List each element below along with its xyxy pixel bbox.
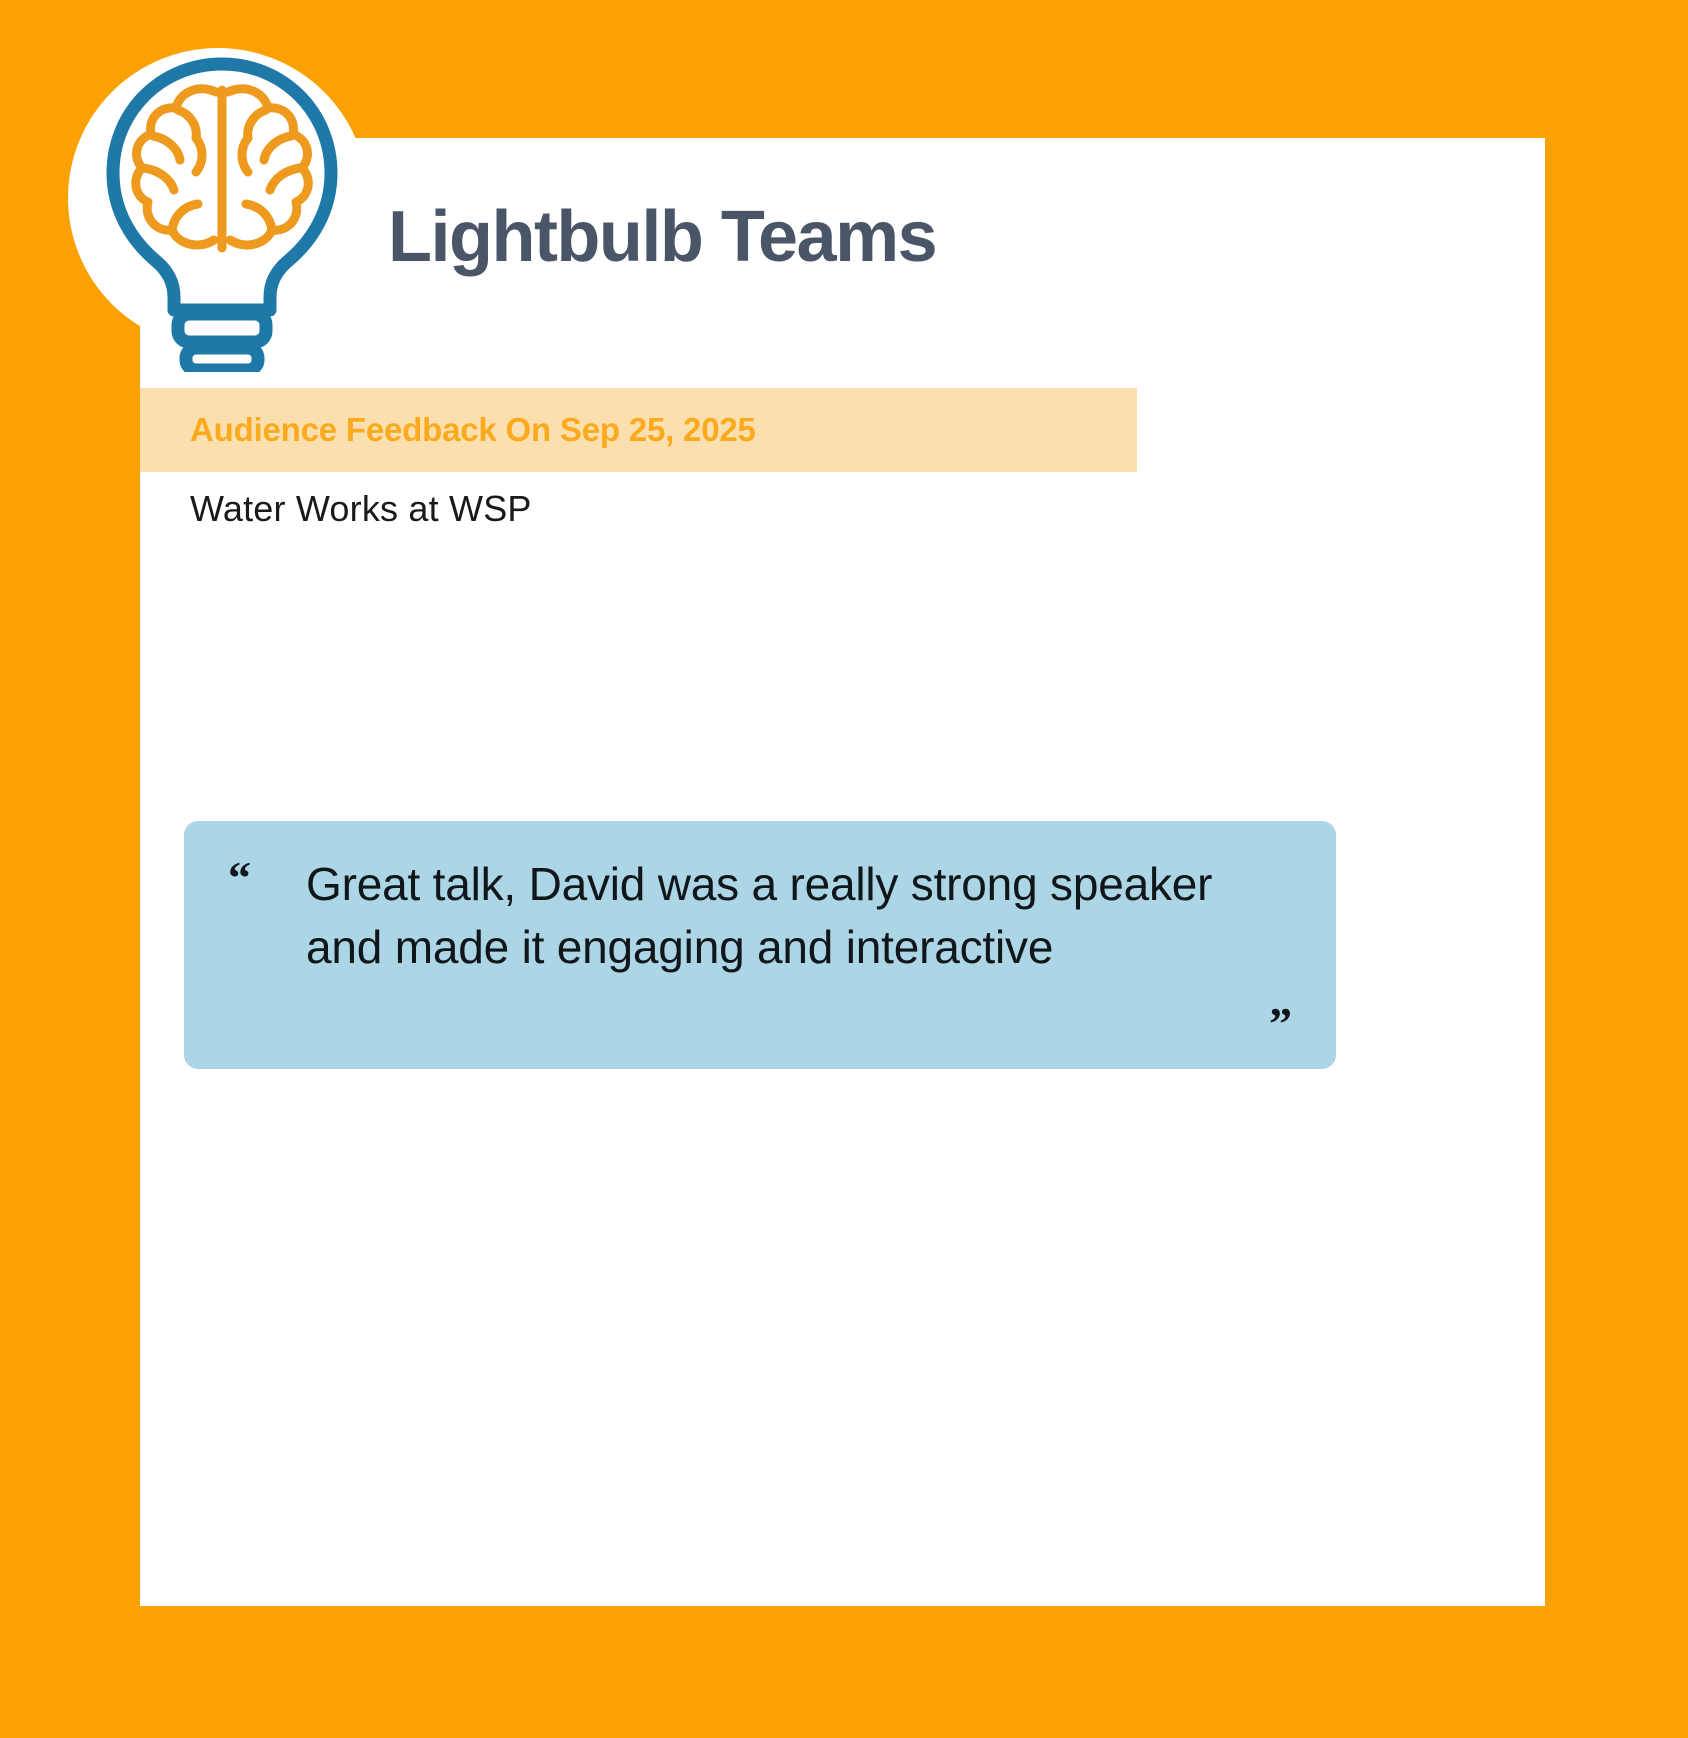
feedback-quote-text: Great talk, David was a really strong sp… bbox=[306, 853, 1292, 978]
open-quote-icon: “ bbox=[228, 855, 251, 901]
lightbulb-brain-icon bbox=[86, 52, 358, 372]
feedback-quote-inner: “ Great talk, David was a really strong … bbox=[228, 853, 1292, 978]
audience-feedback-banner-label: Audience Feedback On Sep 25, 2025 bbox=[190, 411, 756, 449]
event-name: Water Works at WSP bbox=[190, 488, 532, 530]
page-title: Lightbulb Teams bbox=[388, 198, 936, 277]
feedback-quote-card: “ Great talk, David was a really strong … bbox=[184, 821, 1336, 1069]
close-quote-icon: ” bbox=[1269, 1001, 1292, 1047]
audience-feedback-banner: Audience Feedback On Sep 25, 2025 bbox=[140, 388, 1137, 472]
